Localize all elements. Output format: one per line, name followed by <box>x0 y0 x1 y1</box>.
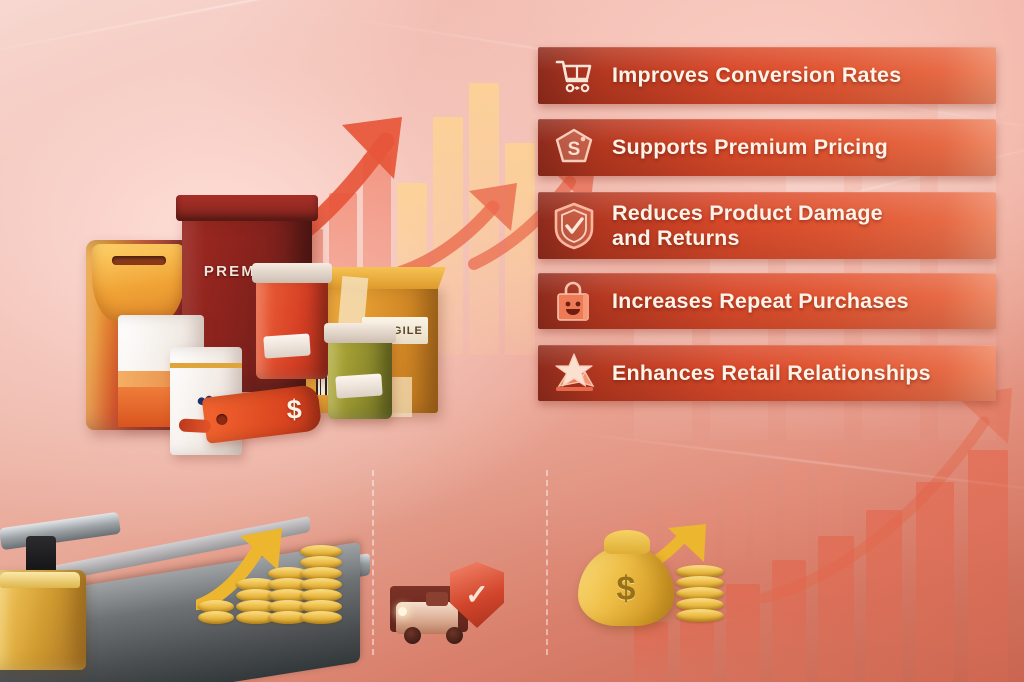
hangtag-strap <box>179 419 212 434</box>
benefit-label-line2: and Returns <box>612 226 740 250</box>
svg-text:S: S <box>568 139 581 160</box>
benefit-item-retail-relationships[interactable]: Enhances Retail Relationships <box>538 345 996 401</box>
glass-jar-red-label <box>256 273 328 379</box>
delivery-truck-protected <box>390 560 530 646</box>
benefit-item-premium-pricing[interactable]: S Supports Premium Pricing <box>538 119 996 176</box>
hangtag-hole <box>216 413 228 425</box>
star-podium-icon <box>548 347 600 399</box>
coin <box>198 611 234 624</box>
benefit-item-repeat-purchases[interactable]: Increases Repeat Purchases <box>538 273 996 329</box>
benefit-item-conversion-rates[interactable]: Improves Conversion Rates <box>538 47 996 104</box>
money-bag-coin-stack <box>676 567 724 622</box>
poster-canvas: PREMIUM FRAGILE ❤ $ <box>0 0 1024 682</box>
machine-arm <box>0 512 121 550</box>
truck-window <box>426 592 448 606</box>
money-bag-neck <box>604 530 650 554</box>
gold-foil-pouch <box>0 570 86 670</box>
jar-cap <box>324 323 396 343</box>
benefit-label: Improves Conversion Rates <box>612 63 901 87</box>
coin-stack-small <box>198 602 234 624</box>
money-bag-profit: $ <box>572 516 732 626</box>
dollar-sign-icon: $ <box>578 570 674 609</box>
truck-headlight <box>398 607 407 616</box>
scene-divider-right <box>546 470 548 655</box>
packaged-products-scene: PREMIUM FRAGILE ❤ $ <box>18 185 488 465</box>
dollar-sign-icon: $ <box>286 394 302 425</box>
benefit-label: Supports Premium Pricing <box>612 135 888 159</box>
benefit-label: Increases Repeat Purchases <box>612 289 909 313</box>
shopping-cart-icon <box>548 50 600 102</box>
benefit-label-line1: Reduces Product Damage <box>612 201 883 225</box>
benefit-label: Enhances Retail Relationships <box>612 361 931 385</box>
truck-wheel <box>446 627 463 644</box>
coin-stacks-growth <box>196 514 346 624</box>
jar-label <box>263 333 310 358</box>
coin <box>300 611 342 624</box>
truck-wheel <box>404 627 421 644</box>
scene-divider-left <box>372 470 374 655</box>
benefits-list: Improves Conversion Rates S Supports Pre… <box>538 47 996 401</box>
benefit-label: Reduces Product Damage and Returns <box>612 201 883 250</box>
shield-check-icon <box>548 200 600 252</box>
glass-jar-olive-label <box>328 333 392 419</box>
price-tag-dollar-icon: S <box>548 122 600 174</box>
smiling-shopping-bag-icon <box>548 275 600 327</box>
benefit-item-product-damage[interactable]: Reduces Product Damage and Returns <box>538 192 996 259</box>
coin-stack-tallest <box>300 547 342 624</box>
jar-cap <box>252 263 332 283</box>
box-lid <box>176 195 318 221</box>
jar-label <box>335 373 382 398</box>
carton-gold-line <box>170 363 242 368</box>
coin <box>676 609 724 622</box>
